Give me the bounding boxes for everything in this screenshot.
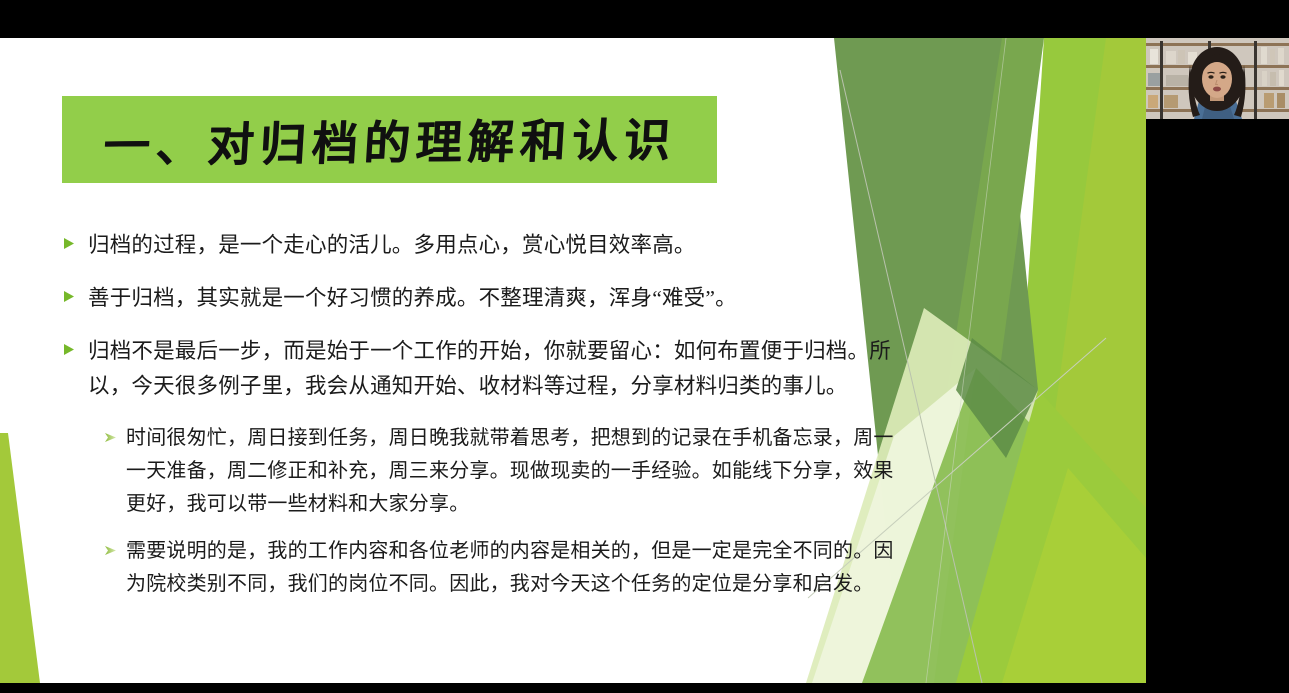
- letterbox-top-bar: [0, 0, 1289, 38]
- screen-recording-frame: 一、对归档的理解和认识 归档的过程，是一个走心的活儿。多用点心，赏心悦目效率高。…: [0, 0, 1289, 693]
- bullet-text: 时间很匆忙，周日接到任务，周日晚我就带着思考，把想到的记录在手机备忘录，周一一天…: [126, 422, 902, 521]
- slide-title: 一、对归档的理解和认识: [101, 104, 677, 176]
- bullet-text: 善于归档，其实就是一个好习惯的养成。不整理清爽，浑身“难受”。: [88, 281, 902, 316]
- triangle-bullet-icon: [62, 228, 88, 250]
- deco-shape-left-wedge: [0, 433, 40, 683]
- arrow-bullet-icon: [104, 422, 126, 444]
- letterbox-right-bar: [1146, 119, 1289, 693]
- arrow-bullet-icon: [104, 535, 126, 557]
- presenter-webcam-feed: [1146, 35, 1289, 119]
- sub-bullet-item: 需要说明的是，我的工作内容和各位老师的内容是相关的，但是一定是完全不同的。因为院…: [62, 535, 902, 601]
- presentation-slide: 一、对归档的理解和认识 归档的过程，是一个走心的活儿。多用点心，赏心悦目效率高。…: [0, 38, 1146, 683]
- green-wedge-bottom-left: [0, 433, 60, 683]
- presenter-video-tile[interactable]: [1146, 35, 1289, 119]
- sub-bullet-item: 时间很匆忙，周日接到任务，周日晚我就带着思考，把想到的记录在手机备忘录，周一一天…: [62, 422, 902, 521]
- bullet-item: 善于归档，其实就是一个好习惯的养成。不整理清爽，浑身“难受”。: [62, 281, 902, 316]
- bullet-text: 归档不是最后一步，而是始于一个工作的开始，你就要留心：如何布置便于归档。所以，今…: [88, 334, 902, 404]
- bullet-text: 需要说明的是，我的工作内容和各位老师的内容是相关的，但是一定是完全不同的。因为院…: [126, 535, 902, 601]
- triangle-bullet-icon: [62, 281, 88, 303]
- slide-body: 归档的过程，是一个走心的活儿。多用点心，赏心悦目效率高。 善于归档，其实就是一个…: [62, 228, 902, 615]
- slide-title-banner: 一、对归档的理解和认识: [62, 96, 717, 183]
- bullet-item: 归档的过程，是一个走心的活儿。多用点心，赏心悦目效率高。: [62, 228, 902, 263]
- triangle-bullet-icon: [62, 334, 88, 356]
- bullet-item: 归档不是最后一步，而是始于一个工作的开始，你就要留心：如何布置便于归档。所以，今…: [62, 334, 902, 404]
- bullet-text: 归档的过程，是一个走心的活儿。多用点心，赏心悦目效率高。: [88, 228, 902, 263]
